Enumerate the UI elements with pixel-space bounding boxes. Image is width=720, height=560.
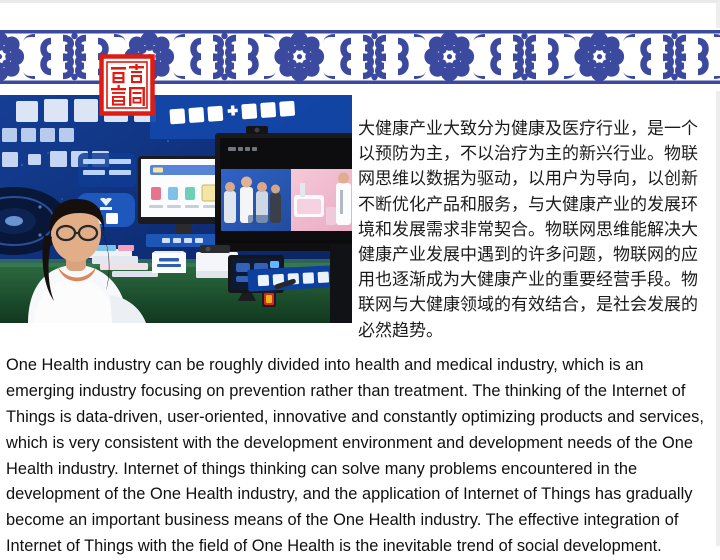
red-seal-stamp-icon xyxy=(99,54,155,116)
chinese-body-paragraph: 大健康产业大致分为健康及医疗行业，是一个以预防为主，不以治疗为主的新兴行业。物联… xyxy=(358,117,710,344)
document-page: 大健康产业大致分为健康及医疗行业，是一个以预防为主，不以治疗为主的新兴行业。物联… xyxy=(0,0,720,546)
exhibition-photo xyxy=(0,95,352,323)
english-body-paragraph: One Health industry can be roughly divid… xyxy=(6,353,706,559)
ornamental-header-band xyxy=(0,28,720,91)
